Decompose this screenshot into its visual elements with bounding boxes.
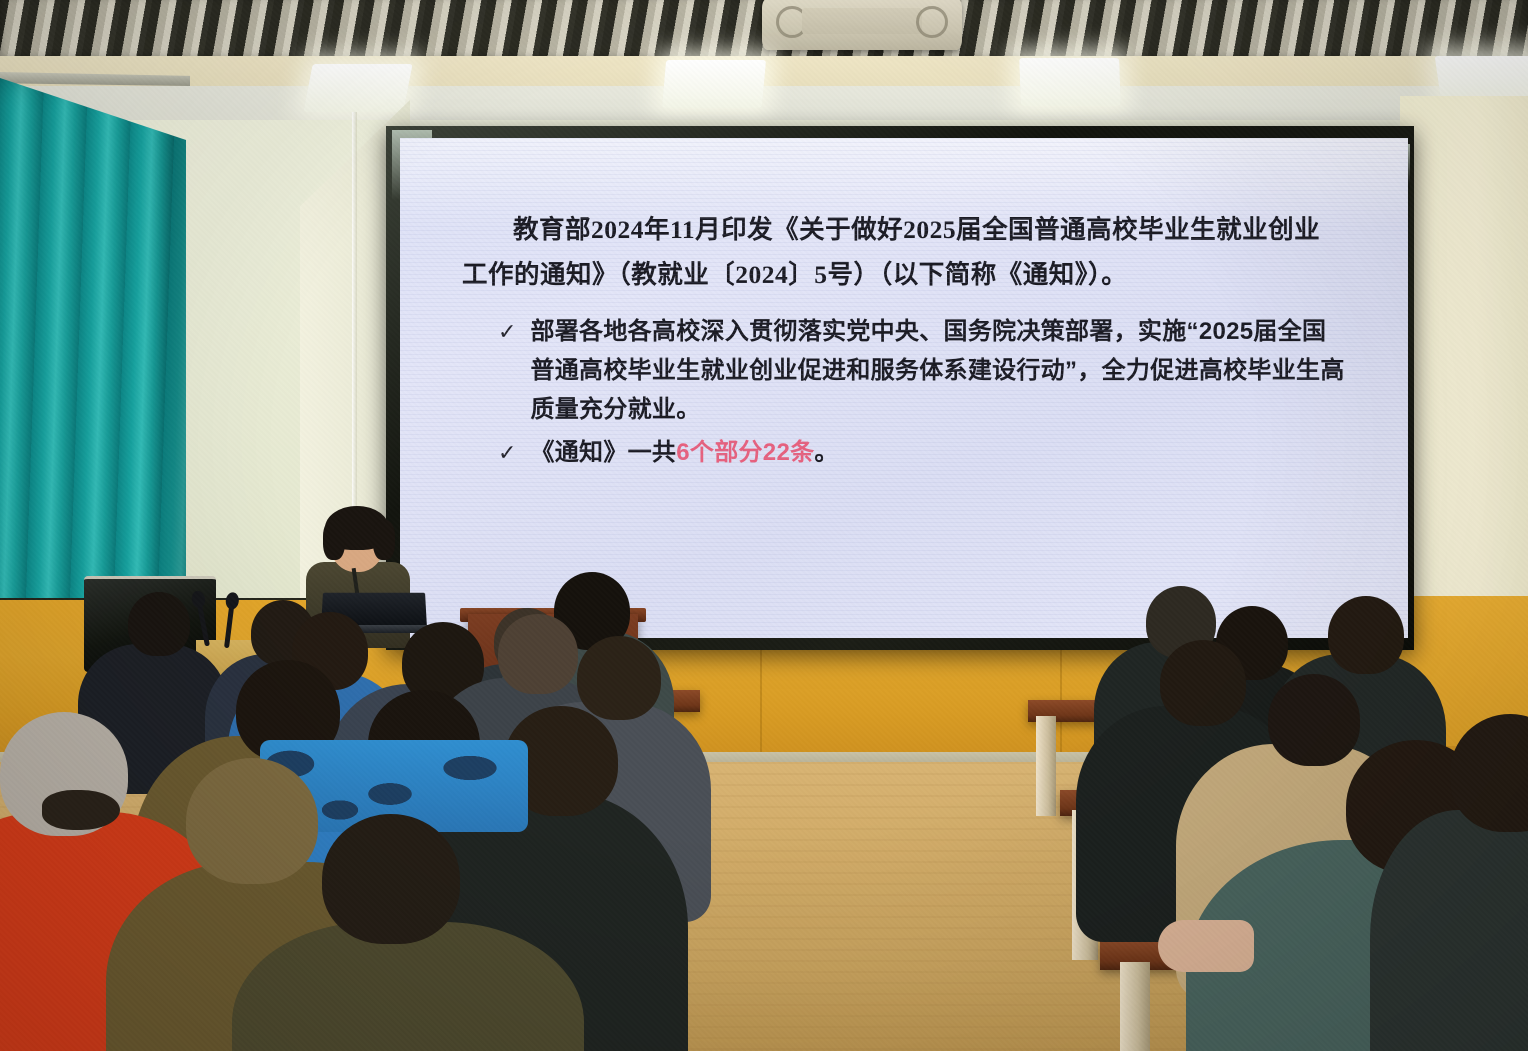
ac-unit-icon bbox=[762, 0, 962, 50]
projection-screen[interactable]: 教育部2024年11月印发《关于做好2025届全国普通高校毕业生就业创业工作的通… bbox=[400, 138, 1408, 638]
ceiling-light-panel-1 bbox=[303, 64, 412, 112]
audience-hand bbox=[1158, 920, 1254, 972]
slide-bullet-item-1: ✓ 部署各地各高校深入贯彻落实党中央、国务院决策部署，实施“2025届全国普通高… bbox=[498, 313, 1346, 430]
slide-bullet-text-1: 部署各地各高校深入贯彻落实党中央、国务院决策部署，实施“2025届全国普通高校毕… bbox=[530, 313, 1346, 430]
right-wall bbox=[1400, 96, 1528, 616]
audience-ponytail bbox=[42, 790, 120, 830]
conference-room-photo: 教育部2024年11月印发《关于做好2025届全国普通高校毕业生就业创业工作的通… bbox=[0, 0, 1528, 1051]
bullet2-suffix: 。 bbox=[814, 439, 838, 466]
slide-bullet-list: ✓ 部署各地各高校深入贯彻落实党中央、国务院决策部署，实施“2025届全国普通高… bbox=[498, 313, 1346, 473]
presenter-hair-right bbox=[373, 520, 395, 560]
slide-bullet-item-2: ✓ 《通知》一共6个部分22条。 bbox=[498, 434, 1346, 473]
checkmark-icon: ✓ bbox=[498, 436, 516, 469]
bullet2-prefix: 《通知》一共 bbox=[530, 439, 676, 466]
slide-paragraph: 教育部2024年11月印发《关于做好2025届全国普通高校毕业生就业创业工作的通… bbox=[462, 208, 1346, 297]
bullet2-highlight: 6个部分22条 bbox=[676, 439, 814, 466]
slide-bullet-text-2: 《通知》一共6个部分22条。 bbox=[530, 434, 838, 473]
slide-content: 教育部2024年11月印发《关于做好2025届全国普通高校毕业生就业创业工作的通… bbox=[400, 138, 1408, 638]
presenter-hair-left bbox=[323, 520, 345, 560]
checkmark-icon: ✓ bbox=[498, 315, 516, 348]
ceiling-light-panel-2 bbox=[662, 60, 766, 108]
ceiling-light-panel-3 bbox=[1019, 58, 1121, 106]
